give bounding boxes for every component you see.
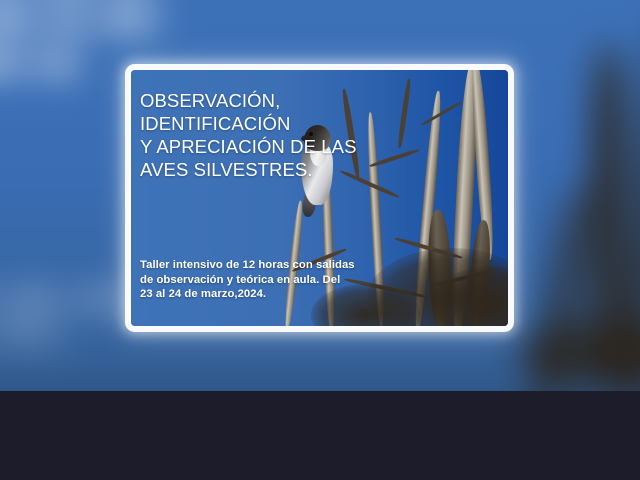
background-text-blur [36, 53, 78, 74]
background-text-blur [0, 53, 23, 74]
poster-photograph [131, 70, 508, 326]
background-text-blur [0, 8, 36, 29]
background-text-blur [0, 324, 61, 341]
background-branch-blur [521, 322, 640, 386]
image-viewer: OBSERVACIÓN, IDENTIFICACIÓN Y APRECIACIÓ… [0, 0, 640, 480]
bottom-bar [0, 391, 640, 480]
background-text-blur [100, 8, 157, 29]
bird-eye [309, 132, 313, 136]
background-text-blur [4, 290, 61, 307]
poster-card[interactable]: OBSERVACIÓN, IDENTIFICACIÓN Y APRECIACIÓ… [131, 70, 508, 326]
background-text-blur [74, 290, 140, 307]
background-text-blur [49, 8, 87, 29]
bird-subject [297, 125, 339, 213]
